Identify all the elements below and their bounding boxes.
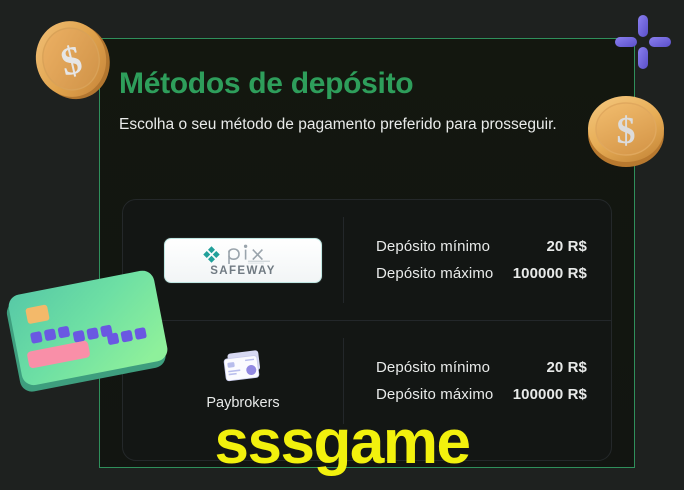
- minimum-deposit-label: Depósito mínimo: [376, 354, 490, 381]
- payment-method-row-pix[interactable]: SAFEWAY Depósito mínimo 20 R$ Depósito m…: [123, 200, 611, 320]
- paybrokers-logo-cell: Paybrokers: [143, 350, 343, 411]
- maximum-deposit-line: Depósito máximo 100000 R$: [376, 381, 587, 408]
- pix-logo-cell: SAFEWAY: [143, 238, 343, 283]
- maximum-deposit-value: 100000 R$: [513, 381, 587, 408]
- minimum-deposit-label: Depósito mínimo: [376, 233, 490, 260]
- maximum-deposit-line: Depósito máximo 100000 R$: [376, 260, 587, 287]
- svg-text:$: $: [57, 36, 87, 84]
- page-subtitle: Escolha o seu método de pagamento prefer…: [119, 112, 571, 138]
- heading-block: Métodos de depósito Escolha o seu método…: [119, 66, 589, 138]
- pix-wordmark: [226, 244, 284, 266]
- maximum-deposit-label: Depósito máximo: [376, 260, 493, 287]
- pix-logo-row: [202, 244, 284, 266]
- screen: Métodos de depósito Escolha o seu método…: [0, 0, 684, 490]
- watermark-text: sssgame: [0, 412, 684, 474]
- safeway-label: SAFEWAY: [210, 265, 276, 277]
- minimum-deposit-value: 20 R$: [546, 354, 587, 381]
- minimum-deposit-value: 20 R$: [546, 233, 587, 260]
- credit-card-icon: [220, 350, 266, 386]
- pix-safeway-badge[interactable]: SAFEWAY: [164, 238, 322, 283]
- maximum-deposit-label: Depósito máximo: [376, 381, 493, 408]
- minimum-deposit-line: Depósito mínimo 20 R$: [376, 233, 587, 260]
- minimum-deposit-line: Depósito mínimo 20 R$: [376, 354, 587, 381]
- maximum-deposit-value: 100000 R$: [513, 260, 587, 287]
- pix-amounts: Depósito mínimo 20 R$ Depósito máximo 10…: [350, 233, 611, 287]
- paybrokers-amounts: Depósito mínimo 20 R$ Depósito máximo 10…: [350, 354, 611, 408]
- row-divider: [343, 217, 344, 303]
- pix-diamond-icon: [202, 245, 221, 264]
- page-title: Métodos de depósito: [119, 66, 589, 102]
